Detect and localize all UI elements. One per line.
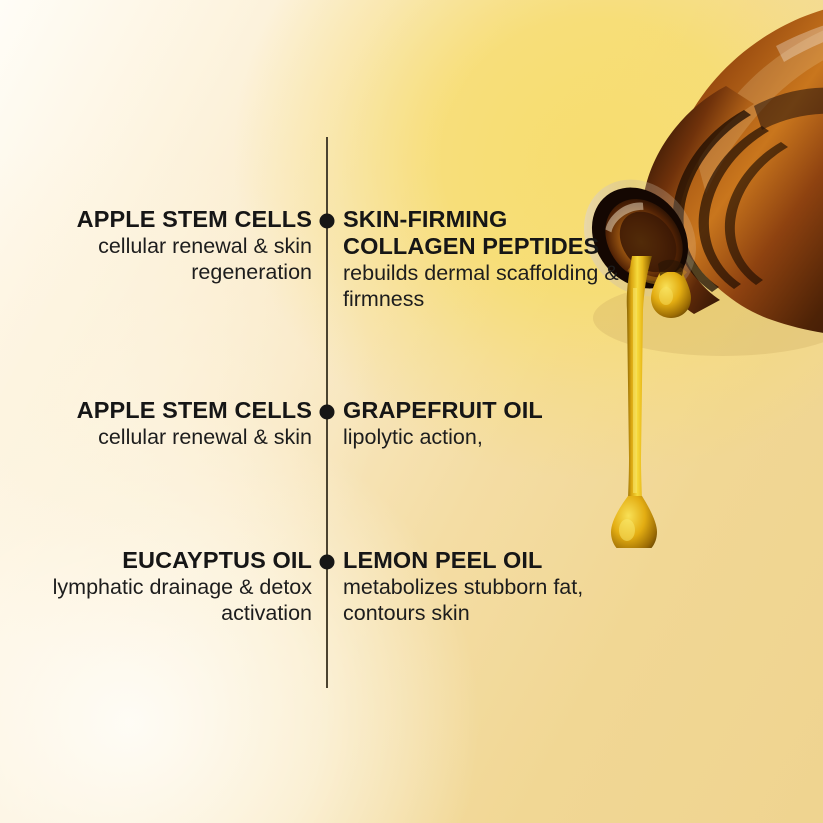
- ingredient-heading: LEMON PEEL OIL: [343, 547, 643, 574]
- ingredient-heading: APPLE STEM CELLS: [12, 206, 312, 233]
- ingredient-left-1: APPLE STEM CELLS cellular renewal & skin…: [12, 206, 312, 285]
- ingredient-description: metabolizes stubborn fat, contours skin: [343, 575, 643, 626]
- ingredient-heading: SKIN-FIRMING COLLAGEN PEPTIDES: [343, 206, 643, 260]
- ingredient-heading: EUCAYPTUS OIL: [12, 547, 312, 574]
- bullet-point-2: [320, 405, 335, 420]
- ingredient-left-2: APPLE STEM CELLS cellular renewal & skin: [12, 397, 312, 451]
- ingredient-infographic: APPLE STEM CELLS cellular renewal & skin…: [0, 0, 823, 823]
- ingredient-description: lipolytic action,: [343, 425, 643, 451]
- ingredient-description: lymphatic drainage & detox activation: [12, 575, 312, 626]
- ingredient-right-3: LEMON PEEL OIL metabolizes stubborn fat,…: [343, 547, 643, 626]
- ingredient-description: cellular renewal & skin: [12, 425, 312, 451]
- ingredient-description: cellular renewal & skin regeneration: [12, 234, 312, 285]
- ingredient-heading: APPLE STEM CELLS: [12, 397, 312, 424]
- ingredient-heading: GRAPEFRUIT OIL: [343, 397, 643, 424]
- ingredient-left-3: EUCAYPTUS OIL lymphatic drainage & detox…: [12, 547, 312, 626]
- bullet-point-1: [320, 214, 335, 229]
- ingredient-right-2: GRAPEFRUIT OIL lipolytic action,: [343, 397, 643, 451]
- ingredient-description: rebuilds dermal scaffolding & firmness: [343, 261, 643, 312]
- bullet-point-3: [320, 555, 335, 570]
- ingredient-right-1: SKIN-FIRMING COLLAGEN PEPTIDES rebuilds …: [343, 206, 643, 312]
